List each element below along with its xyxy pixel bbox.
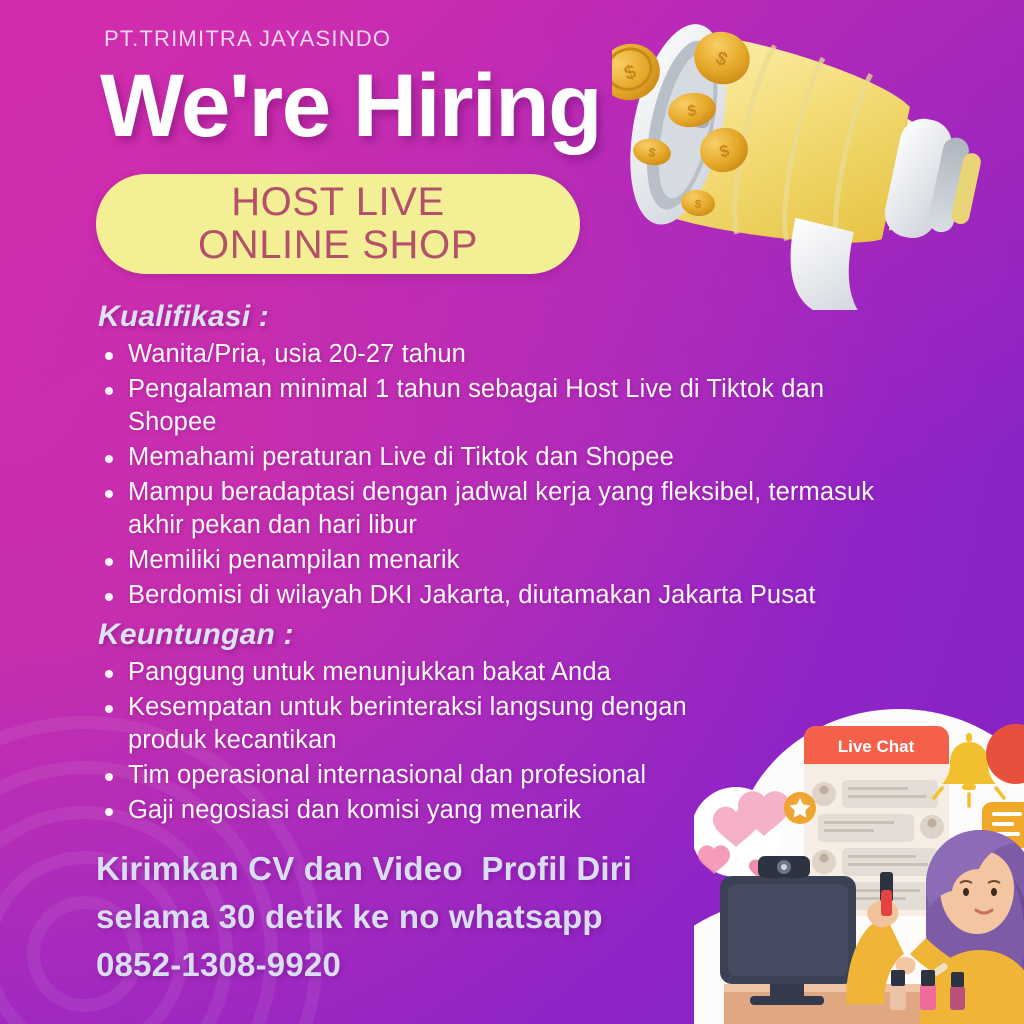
benefits-list: Panggung untuk menunjukkan bakat Anda Ke…	[98, 656, 758, 827]
list-item: Gaji negosiasi dan komisi yang menarik	[98, 794, 758, 828]
list-item: Memiliki penampilan menarik	[98, 544, 898, 578]
list-item: Tim operasional internasional dan profes…	[98, 759, 758, 793]
whatsapp-number: 0852-1308-9920	[96, 941, 632, 989]
headline: We're Hiring	[100, 62, 601, 148]
benefits-heading: Keuntungan :	[98, 618, 758, 652]
recruitment-poster: $ $ $ $ $ $ PT.TRIMITRA	[0, 0, 1024, 1024]
lipstick-icon	[880, 872, 893, 916]
position-line-2: ONLINE SHOP	[198, 224, 478, 267]
live-stream-illustration: Live Chat	[694, 684, 1024, 1024]
list-item: Memahami peraturan Live di Tiktok dan Sh…	[98, 441, 898, 475]
position-line-1: HOST LIVE	[231, 181, 445, 224]
list-item: Pengalaman minimal 1 tahun sebagai Host …	[98, 373, 898, 440]
cta-line-2: selama 30 detik ke no whatsapp	[96, 893, 632, 941]
position-badge: HOST LIVE ONLINE SHOP	[96, 174, 580, 274]
list-item: Wanita/Pria, usia 20-27 tahun	[98, 338, 898, 372]
live-chat-label: Live Chat	[838, 737, 915, 756]
nail-polish-icon	[890, 970, 965, 1010]
list-item: Mampu beradaptasi dengan jadwal kerja ya…	[98, 476, 898, 543]
qualifications-section: Kualifikasi : Wanita/Pria, usia 20-27 ta…	[98, 300, 898, 613]
call-to-action: Kirimkan CV dan Video Profil Diri selama…	[96, 845, 632, 989]
cta-line-1: Kirimkan CV dan Video Profil Diri	[96, 845, 632, 893]
webcam-icon	[758, 856, 810, 878]
qualifications-heading: Kualifikasi :	[98, 300, 898, 334]
monitor-icon	[720, 856, 856, 1005]
megaphone-icon: $ $ $ $ $ $	[612, 10, 1024, 310]
star-icon	[784, 792, 816, 824]
list-item: Panggung untuk menunjukkan bakat Anda	[98, 656, 758, 690]
list-item: Berdomisi di wilayah DKI Jakarta, diutam…	[98, 579, 898, 613]
qualifications-list: Wanita/Pria, usia 20-27 tahun Pengalaman…	[98, 338, 898, 612]
benefits-section: Keuntungan : Panggung untuk menunjukkan …	[98, 618, 758, 828]
list-item: Kesempatan untuk berinteraksi langsung d…	[98, 691, 758, 758]
company-name: PT.TRIMITRA JAYASINDO	[104, 26, 391, 52]
